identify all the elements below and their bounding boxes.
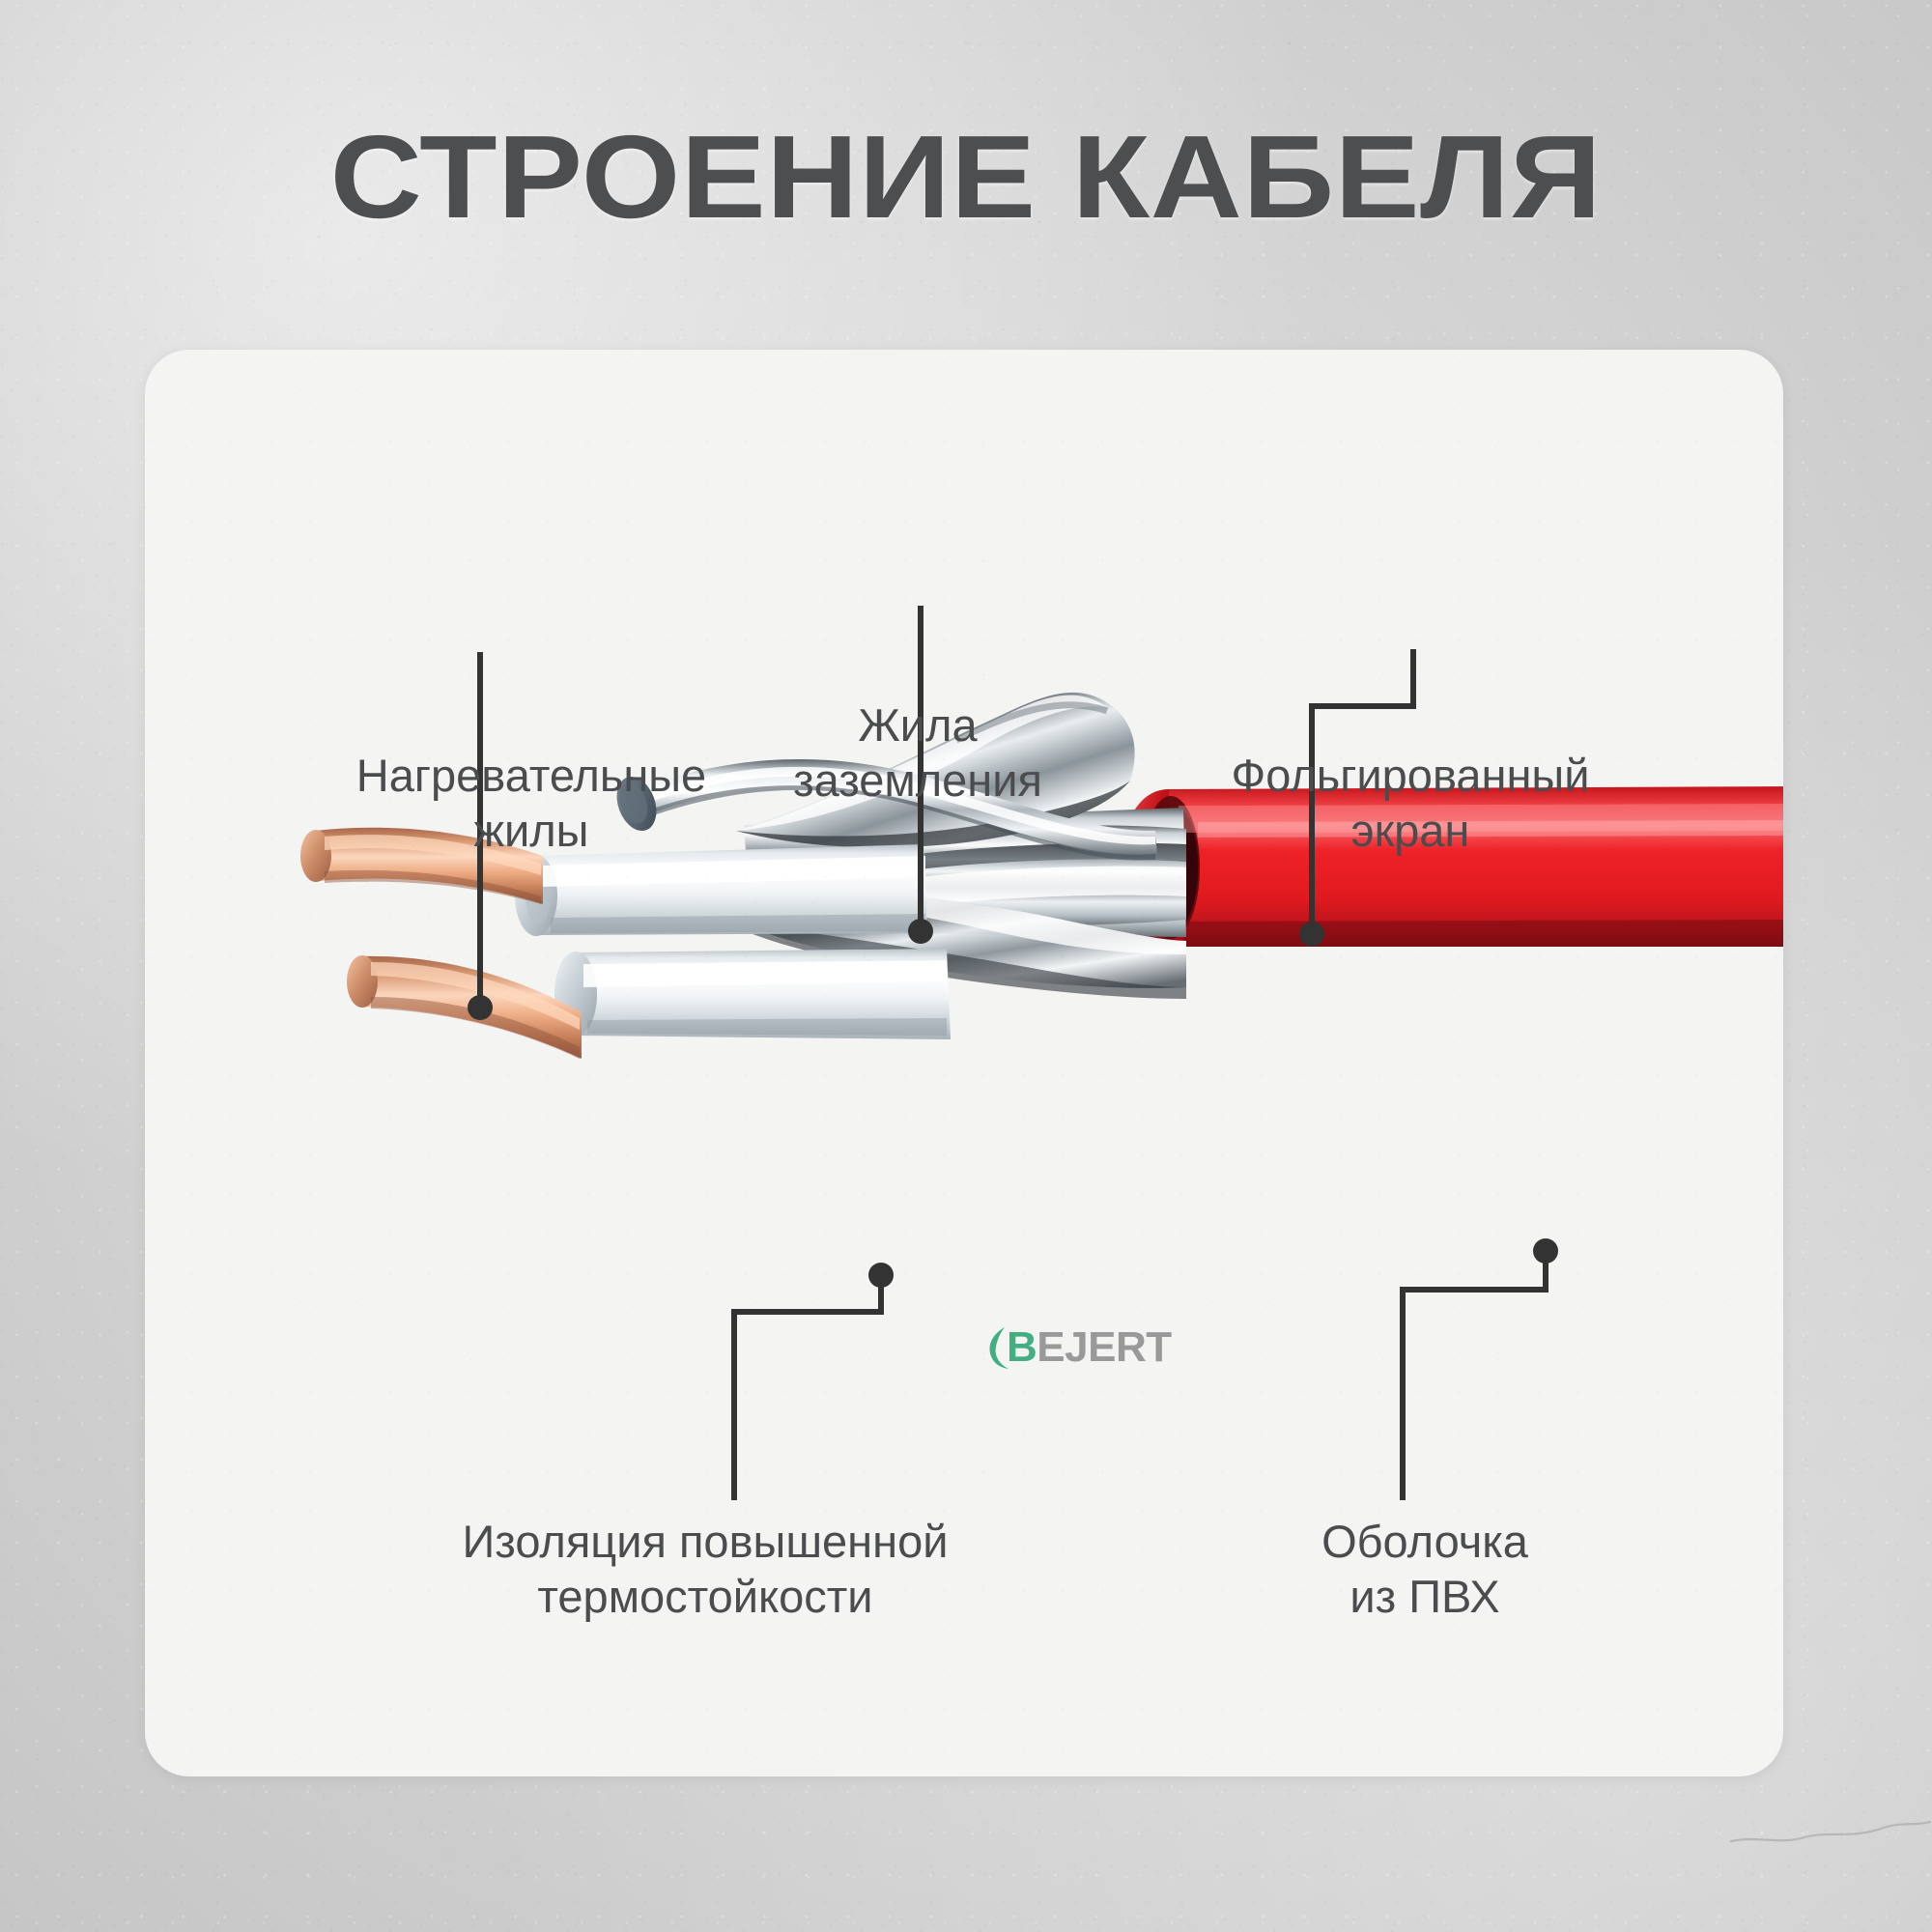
brand-letter-b: B bbox=[1007, 1323, 1037, 1372]
concrete-crack-decoration bbox=[1729, 1816, 1932, 1855]
label-ground-core: Жила заземления bbox=[734, 697, 1101, 809]
label-insulation: Изоляция повышенной термостойкости bbox=[367, 1514, 1043, 1625]
brand-letters-rest: EJERT bbox=[1037, 1323, 1171, 1372]
label-foil-screen: Фольгированный экран bbox=[1154, 748, 1666, 859]
label-heating-cores: Нагревательные жилы bbox=[328, 748, 734, 859]
page-title: СТРОЕНИЕ КАБЕЛЯ bbox=[0, 118, 1932, 236]
brand-watermark: BEJERT bbox=[985, 1323, 1172, 1372]
poster-canvas: СТРОЕНИЕ КАБЕЛЯ bbox=[0, 0, 1932, 1932]
label-pvc-sheath: Оболочка из ПВХ bbox=[1246, 1514, 1604, 1625]
diagram-card: Нагревательные жилы Жила заземления Фоль… bbox=[145, 350, 1783, 1776]
